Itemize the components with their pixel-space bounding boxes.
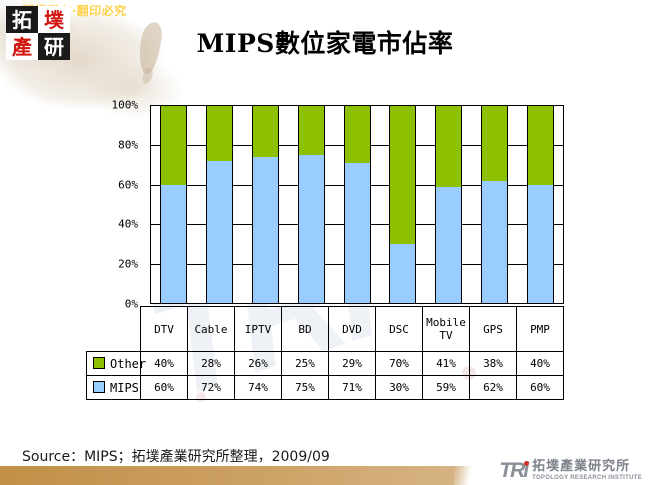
data-cell: 75% [282,376,329,400]
category-header-cell: GPS [470,307,517,352]
stacked-bar[interactable] [435,106,462,303]
data-cell: 40% [141,352,188,376]
category-header-cell: DSC [376,307,423,352]
logo-char-chan: 產 [6,33,38,60]
table-corner-blank [87,307,141,352]
logo-char-yan: 研 [38,33,70,60]
data-cell: 74% [235,376,282,400]
stacked-bar[interactable] [252,106,279,303]
data-cell: 70% [376,352,423,376]
category-header-cell: Mobile TV [423,307,470,352]
data-cell: 38% [470,352,517,376]
taiwan-island-shape-small [141,67,154,85]
category-header-cell: PMP [517,307,564,352]
slide-canvas: TRi TRi 拓 墣 產 研 MIPS數位家電市佔率 0%20%40%60%8… [0,0,650,485]
footer-bar [0,466,454,485]
bar-slot [380,106,426,303]
bar-segment-mips[interactable] [345,163,370,303]
bar-segment-other[interactable] [436,106,461,187]
bar-segment-other[interactable] [390,106,415,244]
bar-slot [426,106,472,303]
bar-segment-mips[interactable] [207,161,232,303]
tri-logo-mark: TRi [499,460,527,481]
data-cell: 28% [188,352,235,376]
stacked-bar[interactable] [298,106,325,303]
data-cell: 72% [188,376,235,400]
logo-char-ta: 墣 [38,6,70,33]
legend-swatch-icon [93,357,105,369]
bar-segment-other[interactable] [161,106,186,185]
stacked-bar[interactable] [160,106,187,303]
legend-swatch-icon [93,381,105,393]
bar-slot [197,106,243,303]
table-row-categories: DTVCableIPTVBDDVDDSCMobile TVGPSPMP [87,307,564,352]
data-cell: 30% [376,376,423,400]
y-axis-tick: 60% [118,178,138,191]
bar-segment-mips[interactable] [390,244,415,303]
category-header-cell: DVD [329,307,376,352]
legend-cell-mips: MIPS [87,376,141,400]
data-table: DTVCableIPTVBDDVDDSCMobile TVGPSPMPOther… [86,306,564,400]
category-header-cell: Cable [188,307,235,352]
bar-segment-mips[interactable] [299,155,324,303]
table-row: Other40%28%26%25%29%70%41%38%40% [87,352,564,376]
stacked-bar[interactable] [389,106,416,303]
bar-segment-other[interactable] [253,106,278,157]
data-cell: 62% [470,376,517,400]
stacked-bar[interactable] [344,106,371,303]
y-axis-tick: 20% [118,258,138,271]
bar-segment-mips[interactable] [161,185,186,303]
data-cell: 40% [517,352,564,376]
tri-logo-dot [524,461,529,466]
data-cell: 59% [423,376,470,400]
data-cell: 29% [329,352,376,376]
legend-label: MIPS [110,381,139,395]
bar-segment-mips[interactable] [482,181,507,303]
tri-logo-name-en: TOPOLOGY RESEARCH INSTITUTE [532,475,642,481]
data-cell: 41% [423,352,470,376]
table-row: MIPS60%72%74%75%71%30%59%62%60% [87,376,564,400]
y-axis-tick: 100% [112,99,139,112]
bar-segment-mips[interactable] [253,157,278,303]
bar-segment-other[interactable] [345,106,370,163]
logo-char-tuo: 拓 [6,6,38,33]
y-axis: 0%20%40%60%80%100% [86,100,144,308]
stacked-bar[interactable] [481,106,508,303]
legend-label: Other [110,357,146,371]
page-title: MIPS數位家電市佔率 [0,24,650,60]
category-header-cell: IPTV [235,307,282,352]
bar-segment-other[interactable] [528,106,553,185]
tri-corner-logo: 拓 墣 產 研 [6,6,70,60]
source-note: Source：MIPS；拓墣產業研究所整理，2009/09 [22,446,330,466]
bar-series-group [151,106,563,303]
tri-logo-names: 拓墣產業研究所 TOPOLOGY RESEARCH INSTITUTE [532,460,642,481]
bar-segment-other[interactable] [482,106,507,181]
stacked-bar[interactable] [527,106,554,303]
category-header-cell: DTV [141,307,188,352]
bar-slot [243,106,289,303]
bar-segment-other[interactable] [299,106,324,155]
category-header-cell: BD [282,307,329,352]
bar-slot [471,106,517,303]
legend-cell-other: Other [87,352,141,376]
bar-slot [288,106,334,303]
bar-slot [151,106,197,303]
data-cell: 60% [141,376,188,400]
bar-slot [517,106,563,303]
bar-slot [334,106,380,303]
stacked-bar[interactable] [206,106,233,303]
plot-area [150,105,564,304]
y-axis-tick: 40% [118,218,138,231]
data-cell: 60% [517,376,564,400]
bar-segment-mips[interactable] [528,185,553,303]
data-cell: 25% [282,352,329,376]
tri-logo-name-cn: 拓墣產業研究所 [532,460,642,473]
data-cell: 26% [235,352,282,376]
tri-logo: TRi 拓墣產業研究所 TOPOLOGY RESEARCH INSTITUTE [499,458,642,482]
y-axis-tick: 80% [118,138,138,151]
bar-segment-other[interactable] [207,106,232,161]
bar-segment-mips[interactable] [436,187,461,303]
data-cell: 71% [329,376,376,400]
chart-container: 0%20%40%60%80%100% DTVCableIPTVBDDVDDSCM… [86,100,568,415]
